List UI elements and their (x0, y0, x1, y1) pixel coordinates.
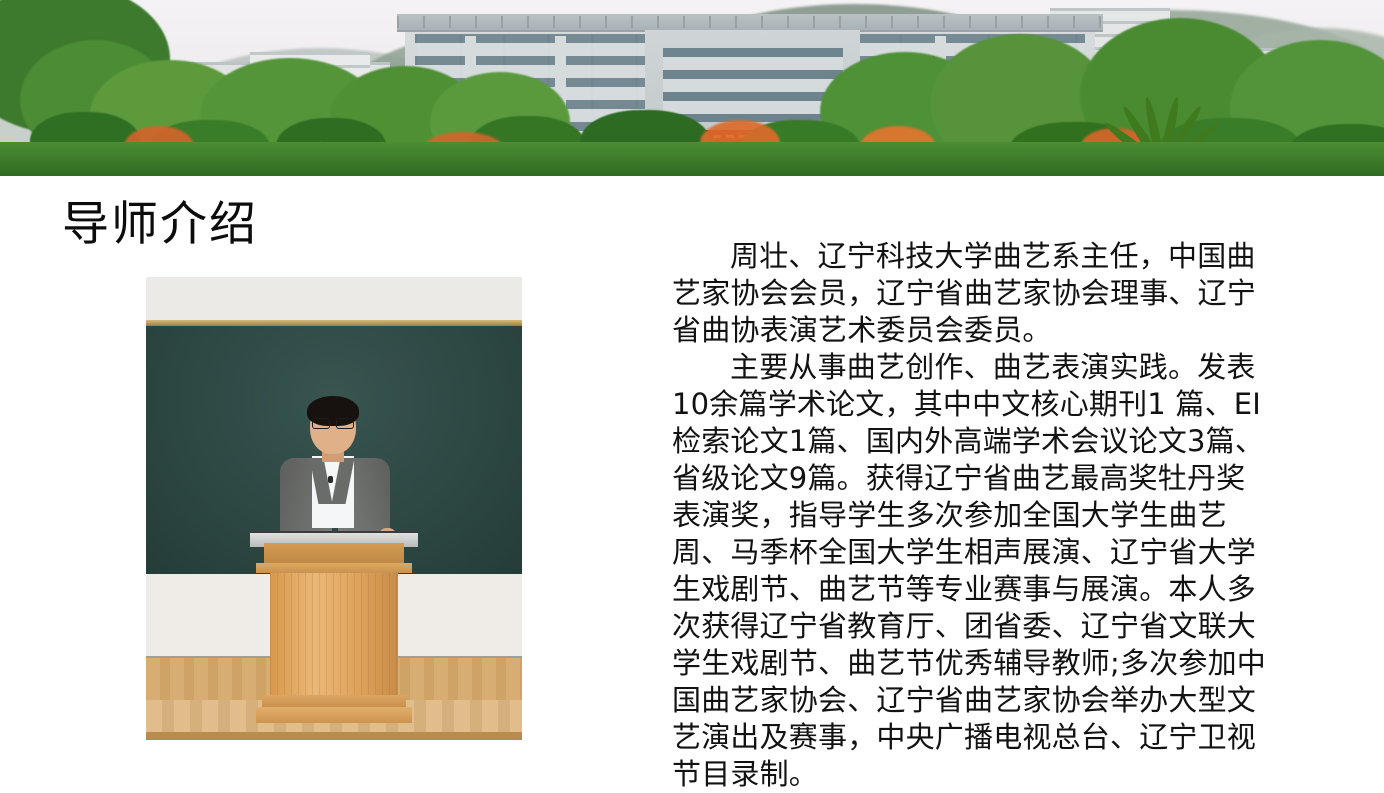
campus-banner-image (0, 0, 1384, 176)
lapel-microphone (328, 476, 333, 483)
eyeglasses (312, 418, 354, 427)
instructor-bio: 周壮、辽宁科技大学曲艺系主任，中国曲艺家协会会员，辽宁省曲艺家协会理事、辽宁省曲… (672, 238, 1272, 793)
page-title: 导师介绍 (62, 198, 258, 252)
bio-paragraph-1: 周壮、辽宁科技大学曲艺系主任，中国曲艺家协会会员，辽宁省曲艺家协会理事、辽宁省曲… (672, 238, 1272, 349)
bio-paragraph-2: 主要从事曲艺创作、曲艺表演实践。发表10余篇学术论文，其中中文核心期刊1 篇、E… (672, 349, 1272, 793)
instructor-figure (274, 400, 392, 540)
instructor-photo (146, 277, 522, 740)
podium-cap (256, 563, 412, 573)
chalkboard-frame (146, 320, 522, 326)
lawn (0, 142, 1384, 176)
floor-edge (146, 732, 522, 740)
podium-column (270, 573, 398, 699)
podium-base-lower (256, 707, 412, 723)
podium-neck (264, 543, 404, 563)
